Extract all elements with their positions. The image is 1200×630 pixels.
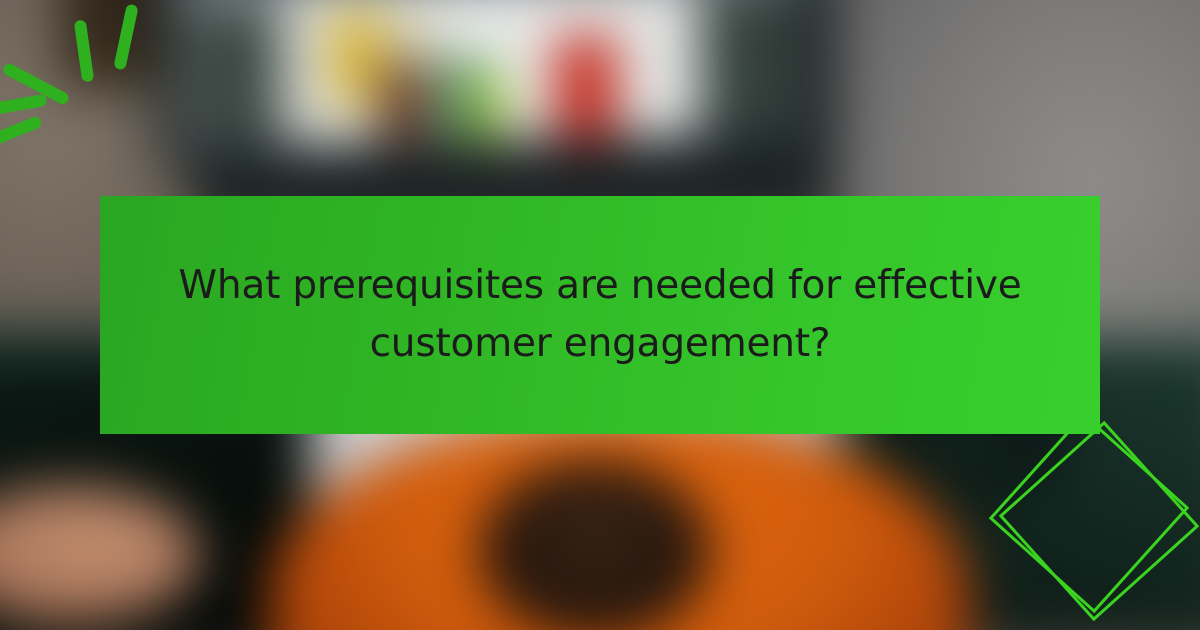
screen-sidebar-right bbox=[698, 0, 801, 146]
headline-banner: What prerequisites are needed for effect… bbox=[100, 196, 1100, 434]
screen-sidebar-left bbox=[189, 0, 282, 146]
person-head bbox=[480, 460, 710, 630]
screen-thumbnail bbox=[279, 10, 327, 141]
social-card: What prerequisites are needed for effect… bbox=[0, 0, 1200, 630]
screen-thumbnail bbox=[619, 0, 691, 141]
page-title: What prerequisites are needed for effect… bbox=[170, 257, 1030, 372]
